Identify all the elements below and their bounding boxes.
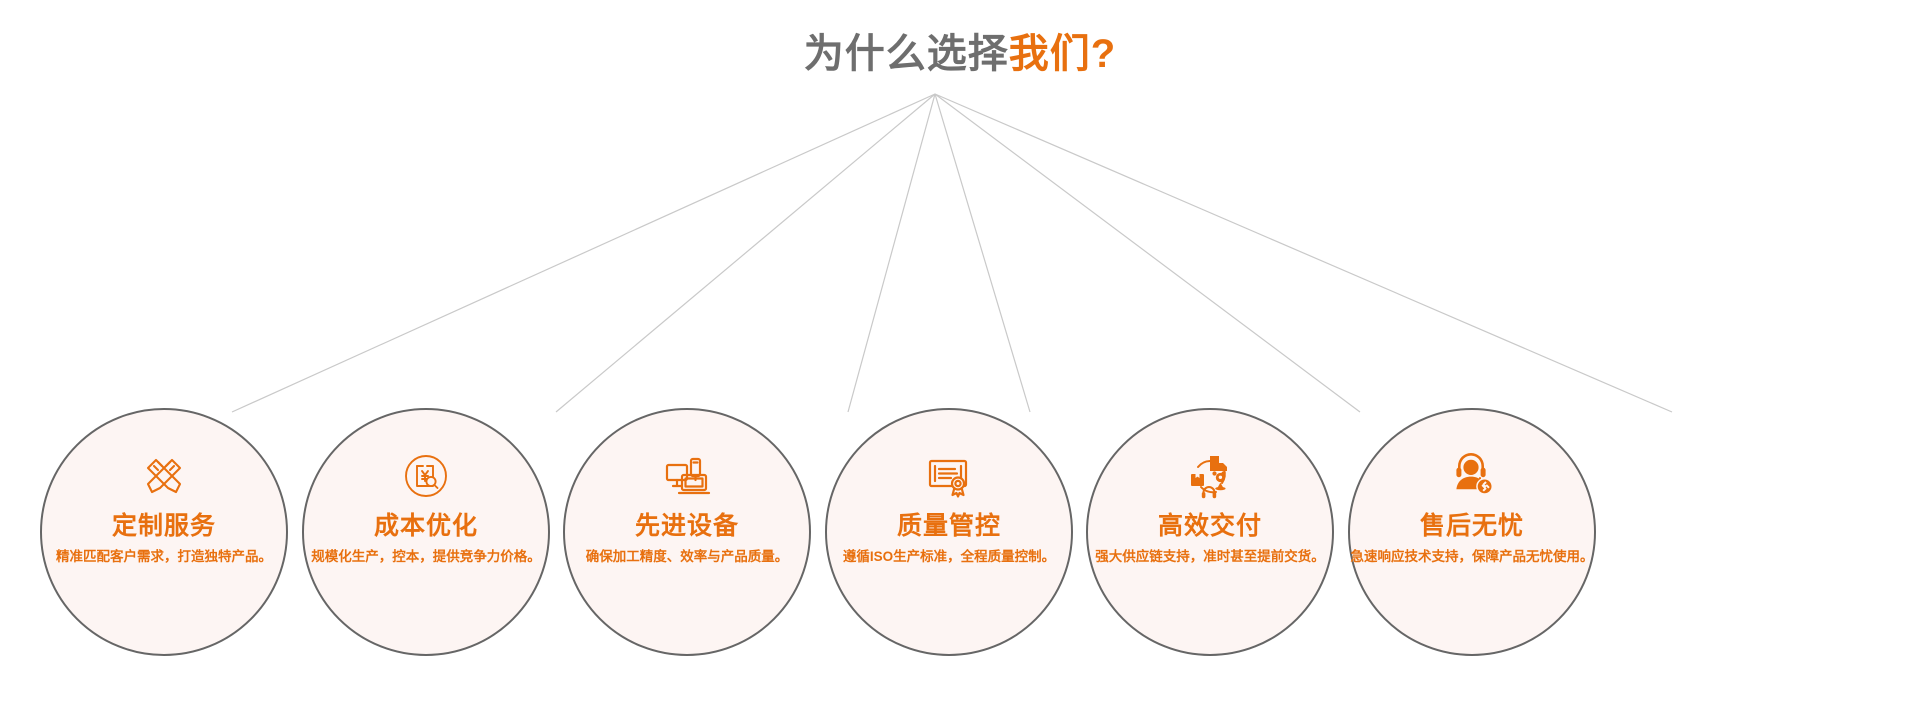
why-choose-us-section: 为什么选择我们? 定制服务 精准匹配客户需求，打造独特产品 [0, 0, 1920, 719]
certificate-icon [925, 448, 973, 504]
feature-title: 高效交付 [1158, 510, 1262, 542]
ruler-pencil-icon [140, 448, 188, 504]
feature-description: 强大供应链支持，准时甚至提前交货。 [1095, 547, 1325, 567]
feature-description: 确保加工精度、效率与产品质量。 [586, 547, 789, 567]
feature-title: 质量管控 [897, 510, 1001, 542]
feature-description: 精准匹配客户需求，打造独特产品。 [56, 547, 272, 567]
feature-title: 先进设备 [635, 510, 739, 542]
feature-description: 遵循ISO生产标准，全程质量控制。 [843, 547, 1055, 567]
feature-card-efficient-delivery[interactable]: 高效交付 强大供应链支持，准时甚至提前交货。 [1086, 408, 1334, 656]
connector-line-2 [556, 94, 935, 412]
devices-icon [662, 448, 712, 504]
connector-line-3 [848, 94, 935, 412]
page-title-plain: 为什么选择 [804, 32, 1009, 76]
connector-line-5 [935, 94, 1360, 412]
feature-title: 定制服务 [112, 510, 216, 542]
feature-card-after-sales[interactable]: 售后无忧 急速响应技术支持，保障产品无忧使用。 [1348, 408, 1596, 656]
page-title: 为什么选择我们? [0, 28, 1920, 80]
feature-description: 规模化生产，控本，提供竞争力价格。 [311, 547, 541, 567]
feature-circle-row: 定制服务 精准匹配客户需求，打造独特产品。 成本优化 规模化生产，控本，提供竞争… [0, 408, 1920, 668]
feature-title: 成本优化 [374, 510, 478, 542]
support-agent-icon [1448, 448, 1496, 504]
feature-card-cost-optimization[interactable]: 成本优化 规模化生产，控本，提供竞争力价格。 [302, 408, 550, 656]
connector-line-1 [232, 94, 935, 412]
feature-description: 急速响应技术支持，保障产品无忧使用。 [1351, 547, 1594, 567]
connector-line-4 [935, 94, 1030, 412]
feature-title: 售后无忧 [1420, 510, 1524, 542]
page-title-accent: 我们? [1009, 32, 1116, 76]
feature-card-advanced-equipment[interactable]: 先进设备 确保加工精度、效率与产品质量。 [563, 408, 811, 656]
logistics-cycle-icon [1184, 448, 1236, 504]
feature-card-quality-control[interactable]: 质量管控 遵循ISO生产标准，全程质量控制。 [825, 408, 1073, 656]
cost-analysis-icon [402, 448, 450, 504]
feature-card-custom-service[interactable]: 定制服务 精准匹配客户需求，打造独特产品。 [40, 408, 288, 656]
connector-line-6 [935, 94, 1672, 412]
